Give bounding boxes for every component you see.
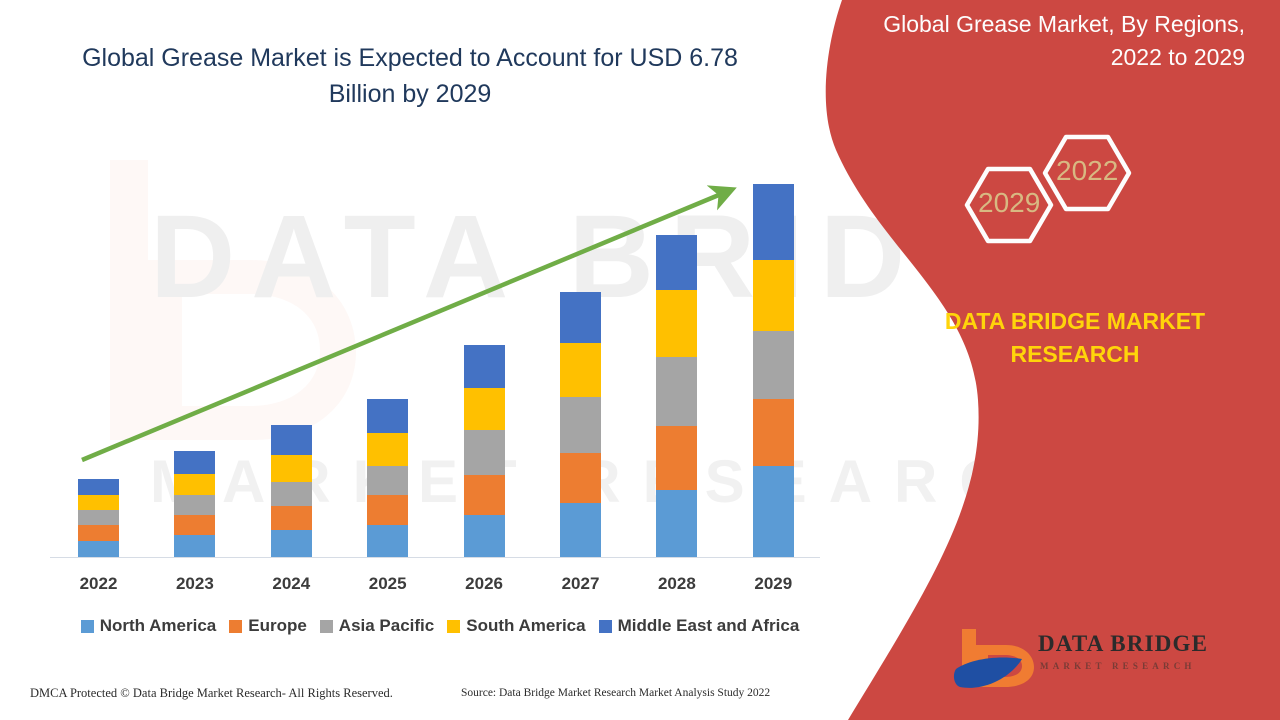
bar-segment: [560, 453, 601, 503]
bar-segment: [174, 451, 215, 475]
x-axis-label: 2027: [560, 574, 601, 594]
bar-segment: [464, 345, 505, 388]
logo-name: DATA BRIDGE: [1038, 631, 1208, 657]
dmca-notice: DMCA Protected © Data Bridge Market Rese…: [30, 686, 393, 701]
hexagon-badges: 2022 2029: [960, 115, 1160, 275]
stacked-bar-chart: 20222023202420252026202720282029: [0, 0, 860, 600]
chart-bars: [0, 0, 860, 600]
bar-segment: [174, 535, 215, 557]
bar-group: [464, 345, 505, 557]
bar-segment: [367, 525, 408, 557]
bar-segment: [367, 495, 408, 525]
bar-segment: [560, 292, 601, 343]
logo-tagline: MARKET RESEARCH: [1040, 661, 1196, 671]
bar-segment: [78, 479, 119, 496]
bar-segment: [656, 290, 697, 357]
hex-label-2029: 2029: [978, 187, 1040, 219]
x-axis-label: 2023: [174, 574, 215, 594]
bar-segment: [367, 433, 408, 466]
bar-segment: [174, 495, 215, 515]
chart-legend: North AmericaEuropeAsia PacificSouth Ame…: [50, 616, 830, 636]
data-bridge-logo: DATA BRIDGE MARKET RESEARCH: [950, 625, 1210, 695]
bar-segment: [367, 399, 408, 433]
x-axis-label: 2029: [753, 574, 794, 594]
x-axis-label: 2026: [464, 574, 505, 594]
brand-name: DATA BRIDGE MARKET RESEARCH: [925, 305, 1225, 370]
legend-label: Asia Pacific: [339, 616, 434, 636]
bar-group: [753, 184, 794, 557]
legend-item[interactable]: Middle East and Africa: [599, 616, 800, 636]
legend-swatch: [447, 620, 460, 633]
bar-segment: [753, 466, 794, 557]
legend-label: Middle East and Africa: [618, 616, 800, 636]
bar-segment: [753, 260, 794, 331]
panel-title: Global Grease Market, By Regions, 2022 t…: [875, 8, 1245, 73]
bar-group: [78, 479, 119, 557]
bar-segment: [271, 506, 312, 530]
bar-group: [656, 235, 697, 557]
bar-segment: [78, 510, 119, 525]
bar-segment: [367, 466, 408, 495]
bar-segment: [78, 541, 119, 557]
bar-segment: [656, 426, 697, 490]
bar-group: [367, 399, 408, 557]
legend-item[interactable]: North America: [81, 616, 217, 636]
bar-segment: [560, 343, 601, 397]
bar-segment: [78, 525, 119, 541]
x-axis-label: 2025: [367, 574, 408, 594]
legend-swatch: [599, 620, 612, 633]
legend-label: Europe: [248, 616, 307, 636]
legend-item[interactable]: South America: [447, 616, 585, 636]
bar-segment: [271, 482, 312, 506]
bar-segment: [271, 425, 312, 455]
bar-group: [271, 425, 312, 557]
bar-segment: [271, 530, 312, 557]
legend-label: South America: [466, 616, 585, 636]
legend-item[interactable]: Europe: [229, 616, 307, 636]
bar-segment: [753, 331, 794, 399]
infographic-root: DATA BRIDGE MARKET RESEARCH Global Greas…: [0, 0, 1280, 720]
bar-segment: [464, 388, 505, 430]
bar-segment: [656, 357, 697, 426]
legend-swatch: [229, 620, 242, 633]
bar-segment: [753, 399, 794, 466]
legend-swatch: [81, 620, 94, 633]
bar-segment: [560, 397, 601, 453]
hex-label-2022: 2022: [1056, 155, 1118, 187]
source-note: Source: Data Bridge Market Research Mark…: [461, 687, 770, 699]
bar-segment: [78, 495, 119, 510]
bar-group: [174, 451, 215, 557]
bar-group: [560, 292, 601, 557]
bar-segment: [174, 474, 215, 495]
bar-segment: [464, 430, 505, 475]
bar-segment: [656, 490, 697, 557]
bar-segment: [174, 515, 215, 535]
bar-segment: [464, 475, 505, 515]
x-axis-label: 2024: [271, 574, 312, 594]
legend-item[interactable]: Asia Pacific: [320, 616, 434, 636]
legend-swatch: [320, 620, 333, 633]
legend-label: North America: [100, 616, 217, 636]
x-axis-label: 2022: [78, 574, 119, 594]
bar-segment: [753, 184, 794, 260]
right-panel: Global Grease Market, By Regions, 2022 t…: [810, 0, 1280, 720]
bar-segment: [656, 235, 697, 290]
bar-segment: [464, 515, 505, 557]
bar-segment: [271, 455, 312, 482]
x-axis-label: 2028: [656, 574, 697, 594]
bar-segment: [560, 503, 601, 557]
